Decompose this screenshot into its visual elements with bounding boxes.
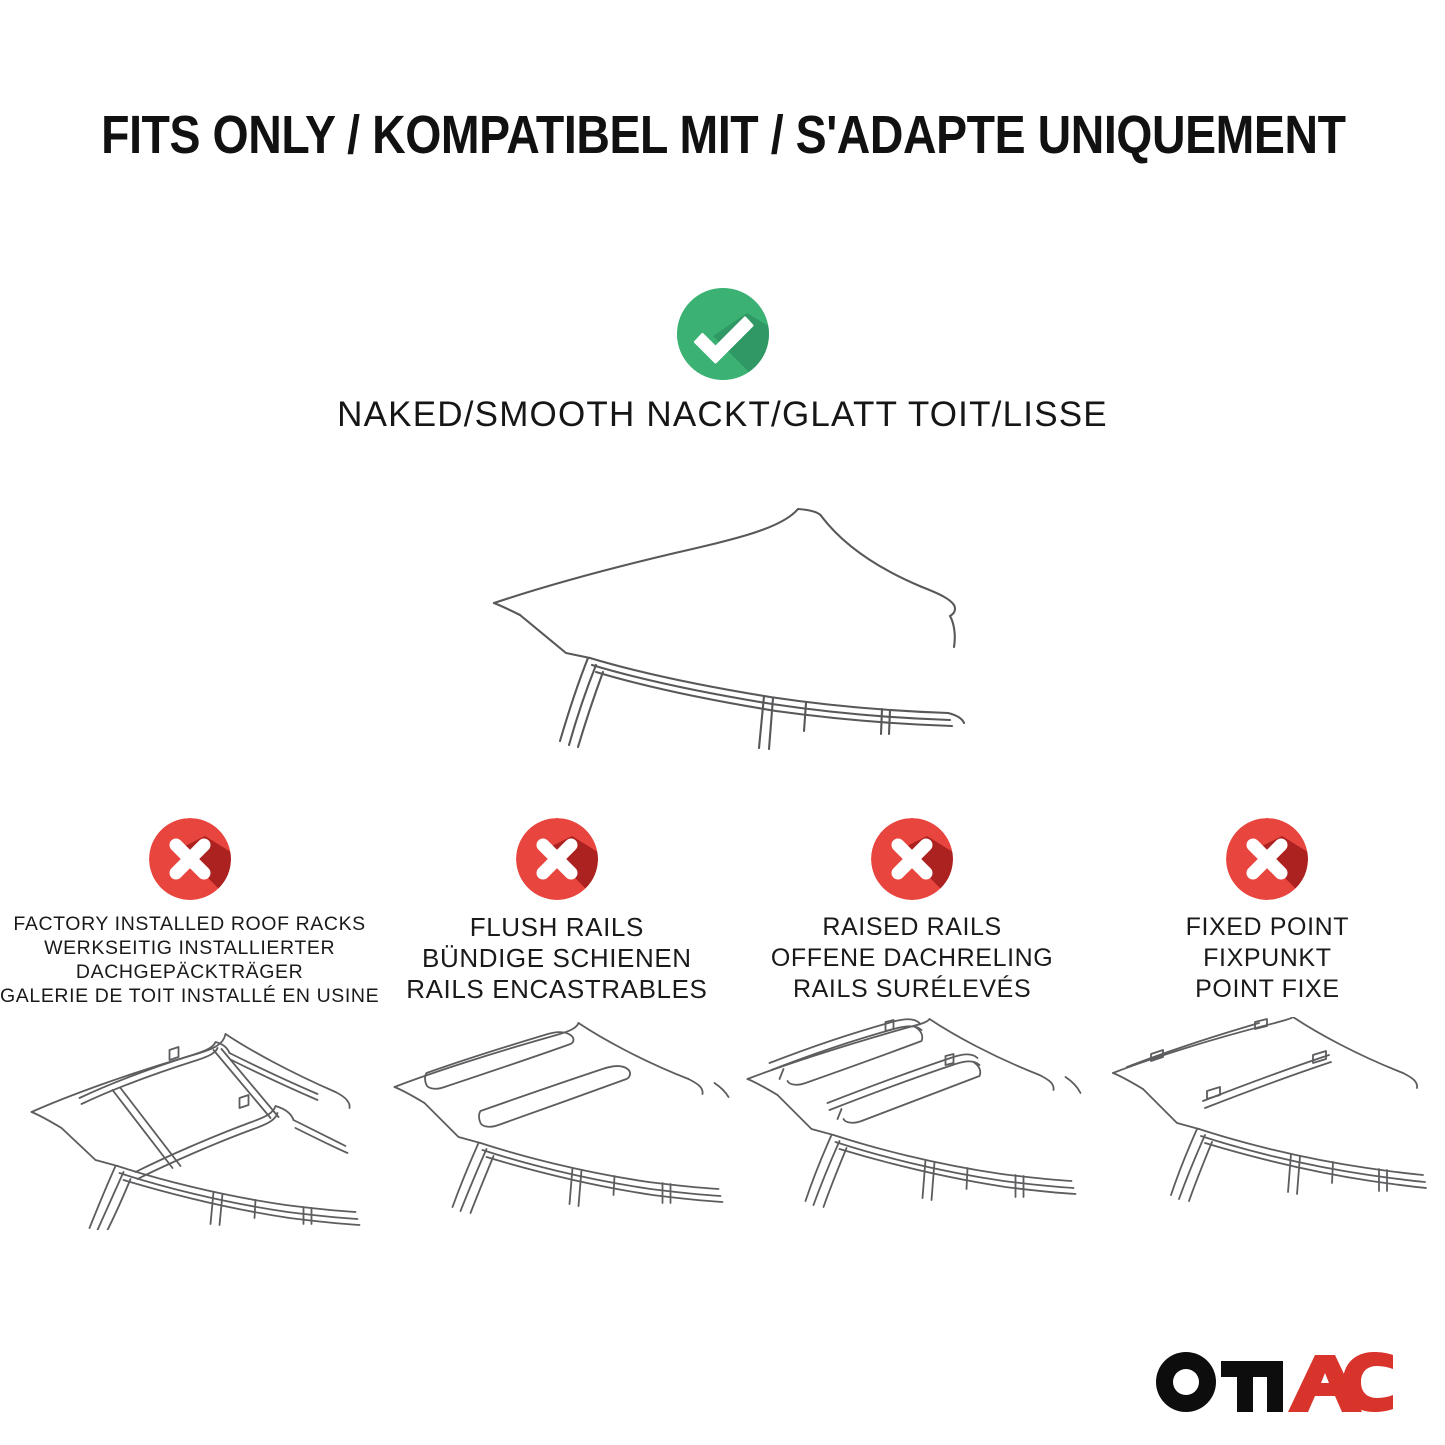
item-labels: RAISED RAILS OFFENE DACHRELING RAILS SUR… [771,912,1053,1005]
item-labels: FLUSH RAILS BÜNDIGE SCHIENEN RAILS ENCAS… [406,912,707,1005]
item-label-fr: POINT FIXE [1186,974,1350,1005]
compatible-label-de: NACKT/GLATT [646,395,897,434]
item-label-de: FIXPUNKT [1186,943,1350,974]
item-label-en: FLUSH RAILS [406,912,707,943]
incompatible-item-factory-installed-roof-racks: FACTORY INSTALLED ROOF RACKS WERKSEITIG … [0,818,379,1240]
x-circle-icon [516,818,598,900]
incompatible-item-flush-rails: FLUSH RAILS BÜNDIGE SCHIENEN RAILS ENCAS… [379,818,734,1237]
x-circle-icon [1226,818,1308,900]
incompatible-item-raised-rails: RAISED RAILS OFFENE DACHRELING RAILS SUR… [734,818,1089,1237]
check-circle-icon [677,288,769,380]
compatible-labels: NAKED/SMOOTH NACKT/GLATT TOIT/LISSE [337,394,1108,435]
item-label-fr: GALERIE DE TOIT INSTALLÉ EN USINE [0,984,379,1008]
car-roof-naked-smooth-illustration [470,495,990,755]
compatible-label-fr: TOIT/LISSE [908,395,1108,434]
item-labels: FACTORY INSTALLED ROOF RACKS WERKSEITIG … [0,912,379,1008]
item-label-en: FACTORY INSTALLED ROOF RACKS [0,912,379,936]
compatible-label-en: NAKED/SMOOTH [337,395,635,434]
page-title: FITS ONLY / KOMPATIBEL MIT / S'ADAPTE UN… [101,104,1344,166]
omac-logo: OMAC [1155,1351,1393,1413]
incompatible-item-fixed-point: FIXED POINT FIXPUNKT POINT FIXE [1090,818,1445,1237]
car-roof-factory-rack-illustration [0,1020,379,1240]
infographic-page: FITS ONLY / KOMPATIBEL MIT / S'ADAPTE UN… [0,0,1445,1445]
x-circle-icon [871,818,953,900]
car-roof-raised-rails-illustration [734,1017,1089,1237]
item-label-fr: RAILS ENCASTRABLES [406,974,707,1005]
item-label-de: OFFENE DACHRELING [771,943,1053,974]
item-label-de-2: DACHGEPÄCKTRÄGER [0,960,379,984]
x-circle-icon [149,818,231,900]
compatible-section: NAKED/SMOOTH NACKT/GLATT TOIT/LISSE [0,288,1445,435]
item-label-en: FIXED POINT [1186,912,1350,943]
car-roof-flush-rails-illustration [379,1017,734,1237]
item-label-de: BÜNDIGE SCHIENEN [406,943,707,974]
item-labels: FIXED POINT FIXPUNKT POINT FIXE [1186,912,1350,1005]
item-label-fr: RAILS SURÉLEVÉS [771,974,1053,1005]
incompatible-section: FACTORY INSTALLED ROOF RACKS WERKSEITIG … [0,818,1445,1240]
car-roof-fixed-point-illustration [1090,1017,1445,1237]
item-label-en: RAISED RAILS [771,912,1053,943]
item-label-de-1: WERKSEITIG INSTALLIERTER [0,936,379,960]
